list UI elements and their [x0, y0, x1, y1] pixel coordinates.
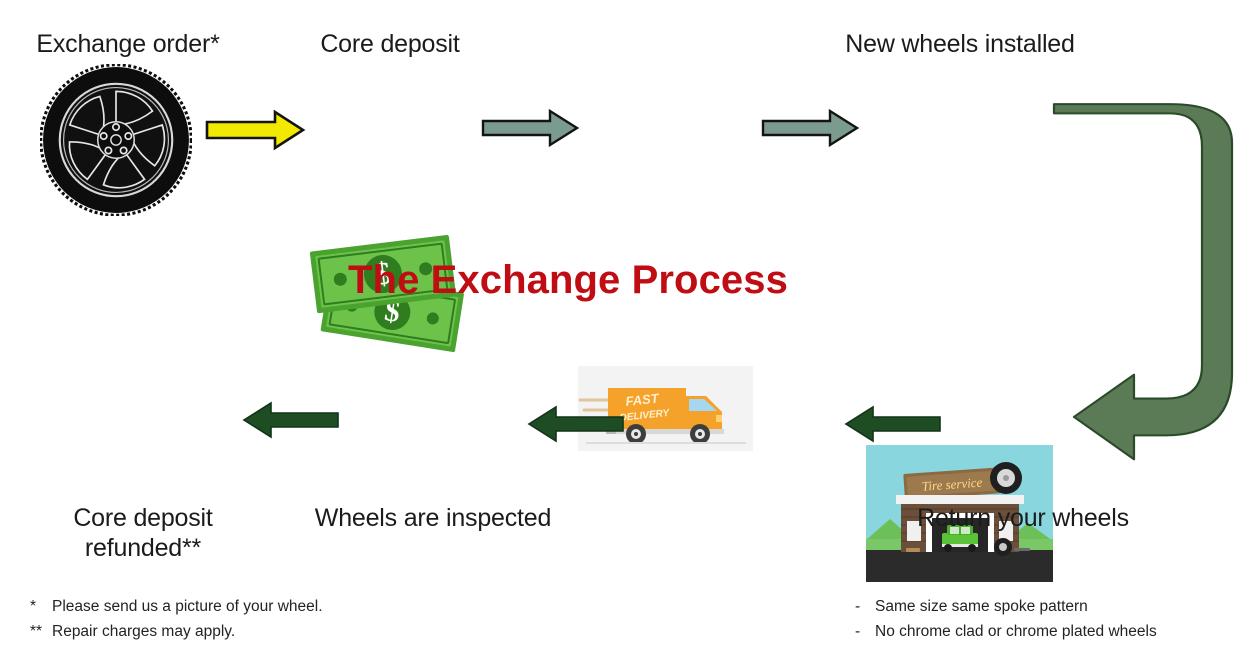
- black-alloy-wheel-icon: [40, 64, 192, 216]
- step-label-wheels-installed: New wheels installed: [800, 30, 1120, 60]
- arrow-truck-to-inspected: [528, 405, 624, 443]
- arrow-truck-to-shop: [762, 108, 858, 148]
- footnote-mark: **: [30, 619, 52, 644]
- footnote-text: No chrome clad or chrome plated wheels: [875, 623, 1157, 640]
- footnote-right-1: -Same size same spoke pattern: [855, 594, 1250, 619]
- step-label-return-wheels: Return your wheels: [893, 504, 1153, 534]
- footnote-right-2: -No chrome clad or chrome plated wheels: [855, 619, 1250, 644]
- footnote-text: Same size same spoke pattern: [875, 598, 1088, 615]
- step-label-exchange-order: Exchange order*: [18, 30, 238, 60]
- footnote-text: Please send us a picture of your wheel.: [52, 598, 323, 615]
- arrow-order-to-deposit: [205, 110, 305, 150]
- step-label-deposit-refunded: Core deposit refunded**: [28, 504, 258, 563]
- arrow-return-to-truck: [845, 405, 941, 443]
- footnote-mark: -: [855, 594, 875, 619]
- page-title: The Exchange Process: [348, 258, 788, 303]
- footnote-mark: *: [30, 594, 52, 619]
- step-label-deposit-refunded-line1: Core deposit: [28, 504, 258, 534]
- footnote-left-1: *Please send us a picture of your wheel.: [30, 594, 510, 619]
- footnote-text: Repair charges may apply.: [52, 623, 235, 640]
- footnote-left-2: **Repair charges may apply.: [30, 619, 510, 644]
- footnote-mark: -: [855, 619, 875, 644]
- step-label-deposit-refunded-line2: refunded**: [28, 534, 258, 564]
- exchange-process-diagram: Exchange order*: [0, 0, 1250, 666]
- footnotes-right: -Same size same spoke pattern -No chrome…: [855, 594, 1250, 644]
- footnotes-left: *Please send us a picture of your wheel.…: [30, 594, 510, 644]
- arrow-inspected-to-refund: [243, 401, 339, 439]
- arrow-shop-to-return: [1052, 100, 1232, 460]
- step-label-wheels-inspected: Wheels are inspected: [298, 504, 568, 534]
- arrow-deposit-to-truck: [482, 108, 578, 148]
- step-label-core-deposit: Core deposit: [295, 30, 485, 60]
